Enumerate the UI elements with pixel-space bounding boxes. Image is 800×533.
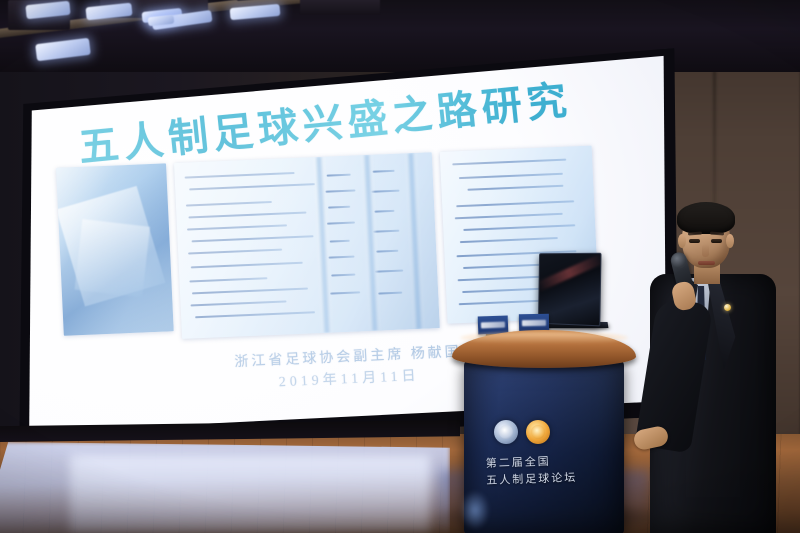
speaker-hair <box>677 202 735 234</box>
slide-image-manuscript-pages <box>174 152 440 339</box>
ceiling <box>0 0 800 72</box>
speaker-lapel-pin <box>724 304 731 311</box>
podium-light-reflection <box>460 490 490 530</box>
photo-scene: 五人制足球兴盛之路研究 <box>0 0 800 533</box>
ceiling-fixture <box>300 0 380 14</box>
slide-image-stacked-papers <box>56 163 174 335</box>
podium-top-highlight <box>460 332 628 344</box>
podium-signage: 第二届全国 五人制足球论坛 <box>485 452 604 489</box>
projector-light-spill-soft <box>70 455 430 533</box>
association-emblem-gold-icon <box>526 420 550 444</box>
handwriting-lines <box>174 152 440 339</box>
speaker-ear-right <box>726 234 734 248</box>
speaker-mouth <box>698 261 715 265</box>
podium: 第二届全国 五人制足球论坛 <box>452 330 636 533</box>
podium-body: 第二届全国 五人制足球论坛 <box>464 358 624 533</box>
image-sheen <box>56 163 174 335</box>
speaker-person <box>628 182 798 533</box>
name-card-text <box>481 322 505 329</box>
speaker-eye-left <box>689 239 700 243</box>
ceiling-light-panel <box>35 38 91 61</box>
name-card-text <box>522 320 546 326</box>
speaker-ear-left <box>678 234 686 248</box>
podium-top-surface <box>452 330 636 368</box>
speaker-nose <box>702 244 709 257</box>
association-emblem-silver-icon <box>494 420 518 444</box>
speaker-eye-right <box>711 239 722 243</box>
